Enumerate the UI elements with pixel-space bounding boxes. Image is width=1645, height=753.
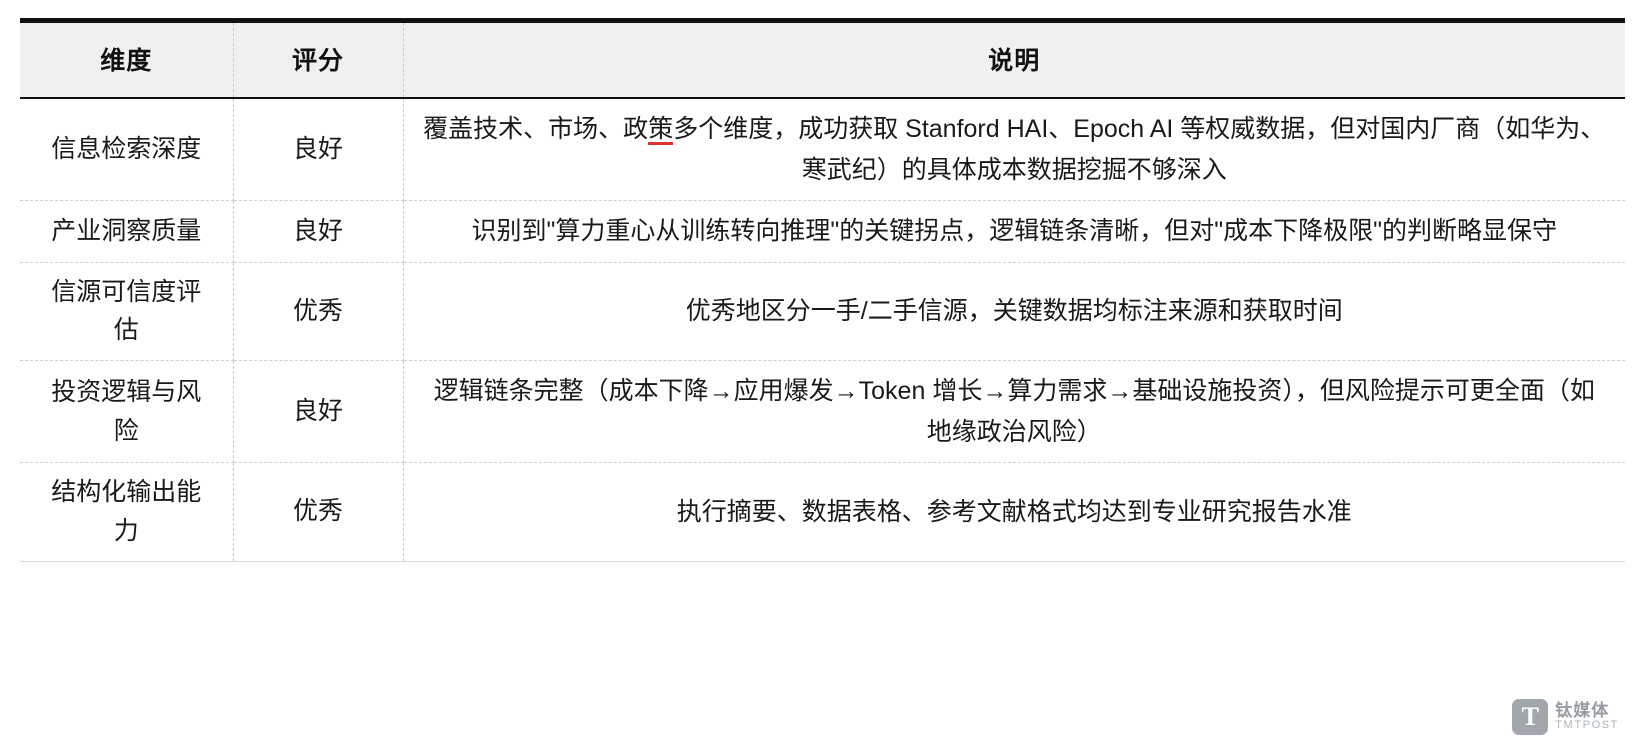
cell-dimension: 投资逻辑与风险 bbox=[20, 361, 233, 463]
cell-score: 优秀 bbox=[233, 262, 403, 361]
description-text-pre: 覆盖技术、市场、政 bbox=[423, 115, 648, 143]
tmtpost-logo-icon: T bbox=[1512, 699, 1548, 735]
table-row: 投资逻辑与风险 良好 逻辑链条完整（成本下降→应用爆发→Token 增长→算力需… bbox=[20, 361, 1625, 463]
evaluation-table: 维度 评分 说明 信息检索深度 良好 覆盖技术、市场、政策多个维度，成功获取 S… bbox=[20, 18, 1625, 562]
column-header-score: 评分 bbox=[233, 21, 403, 99]
column-header-description: 说明 bbox=[403, 21, 1625, 99]
watermark-name-cn: 钛媒体 bbox=[1555, 702, 1619, 720]
watermark-text: 钛媒体 TMTPOST bbox=[1555, 702, 1619, 731]
table-row: 结构化输出能力 优秀 执行摘要、数据表格、参考文献格式均达到专业研究报告水准 bbox=[20, 463, 1625, 562]
cell-description: 覆盖技术、市场、政策多个维度，成功获取 Stanford HAI、Epoch A… bbox=[403, 98, 1625, 201]
cell-dimension: 信息检索深度 bbox=[20, 98, 233, 201]
evaluation-table-page: 维度 评分 说明 信息检索深度 良好 覆盖技术、市场、政策多个维度，成功获取 S… bbox=[0, 0, 1645, 753]
cell-description: 识别到"算力重心从训练转向推理"的关键拐点，逻辑链条清晰，但对"成本下降极限"的… bbox=[403, 201, 1625, 263]
description-text-post: 多个维度，成功获取 Stanford HAI、Epoch AI 等权威数据，但对… bbox=[673, 115, 1605, 184]
table-body: 信息检索深度 良好 覆盖技术、市场、政策多个维度，成功获取 Stanford H… bbox=[20, 98, 1625, 561]
cell-description: 执行摘要、数据表格、参考文献格式均达到专业研究报告水准 bbox=[403, 463, 1625, 562]
table-header-row: 维度 评分 说明 bbox=[20, 21, 1625, 99]
red-underline-highlight: 策 bbox=[648, 115, 673, 145]
cell-description: 逻辑链条完整（成本下降→应用爆发→Token 增长→算力需求→基础设施投资），但… bbox=[403, 361, 1625, 463]
table-row: 产业洞察质量 良好 识别到"算力重心从训练转向推理"的关键拐点，逻辑链条清晰，但… bbox=[20, 201, 1625, 263]
column-header-dimension: 维度 bbox=[20, 21, 233, 99]
table-header: 维度 评分 说明 bbox=[20, 21, 1625, 99]
table-row: 信息检索深度 良好 覆盖技术、市场、政策多个维度，成功获取 Stanford H… bbox=[20, 98, 1625, 201]
cell-score: 良好 bbox=[233, 201, 403, 263]
cell-score: 良好 bbox=[233, 361, 403, 463]
cell-dimension: 信源可信度评估 bbox=[20, 262, 233, 361]
table-container: 维度 评分 说明 信息检索深度 良好 覆盖技术、市场、政策多个维度，成功获取 S… bbox=[0, 18, 1645, 562]
watermark-name-en: TMTPOST bbox=[1555, 720, 1619, 732]
cell-score: 优秀 bbox=[233, 463, 403, 562]
cell-description: 优秀地区分一手/二手信源，关键数据均标注来源和获取时间 bbox=[403, 262, 1625, 361]
cell-dimension: 产业洞察质量 bbox=[20, 201, 233, 263]
cell-score: 良好 bbox=[233, 98, 403, 201]
table-row: 信源可信度评估 优秀 优秀地区分一手/二手信源，关键数据均标注来源和获取时间 bbox=[20, 262, 1625, 361]
watermark: T 钛媒体 TMTPOST bbox=[1512, 699, 1619, 735]
cell-dimension: 结构化输出能力 bbox=[20, 463, 233, 562]
